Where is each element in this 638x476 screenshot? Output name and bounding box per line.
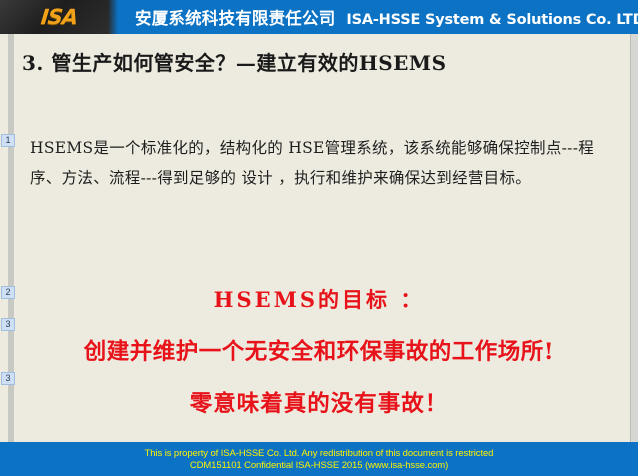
animation-marker-4[interactable]: 3 [1, 372, 15, 385]
company-name-chinese: 安厦系统科技有限责任公司 [135, 5, 335, 29]
footer-copyright-line: This is property of ISA-HSSE Co. Ltd. An… [145, 448, 494, 459]
slide-body-paragraph: HSEMS是一个标准化的，结构化的 HSE管理系统，该系统能够确保控制点---程… [30, 133, 610, 193]
isa-logo: ISA [0, 0, 118, 34]
animation-marker-3[interactable]: 3 [1, 318, 15, 331]
animation-marker-1[interactable]: 1 [1, 134, 15, 147]
isa-logo-text: ISA [40, 5, 79, 29]
company-name-english: ISA-HSSE System & Solutions Co. LTD [346, 12, 638, 28]
presentation-slide: ISA 安厦系统科技有限责任公司 ISA-HSSE System & Solut… [0, 0, 638, 476]
slide-header-bar: ISA 安厦系统科技有限责任公司 ISA-HSSE System & Solut… [0, 0, 638, 34]
slide-footer-bar: This is property of ISA-HSSE Co. Ltd. An… [0, 442, 638, 476]
slide-title: 3. 管生产如何管安全？—建立有效的HSEMS [22, 47, 447, 76]
hsems-goal-statement-2: 零意味着真的没有事故！ [0, 386, 638, 418]
header-title-group: 安厦系统科技有限责任公司 ISA-HSSE System & Solutions… [123, 5, 638, 29]
hsems-goal-heading: HSEMS的目标 ： [0, 284, 638, 314]
hsems-goal-statement-1: 创建并维护一个无安全和环保事故的工作场所! [0, 334, 638, 366]
animation-marker-2[interactable]: 2 [1, 286, 15, 299]
footer-document-id-line: CDM151101 Confidential ISA-HSSE 2015 (ww… [190, 460, 448, 471]
